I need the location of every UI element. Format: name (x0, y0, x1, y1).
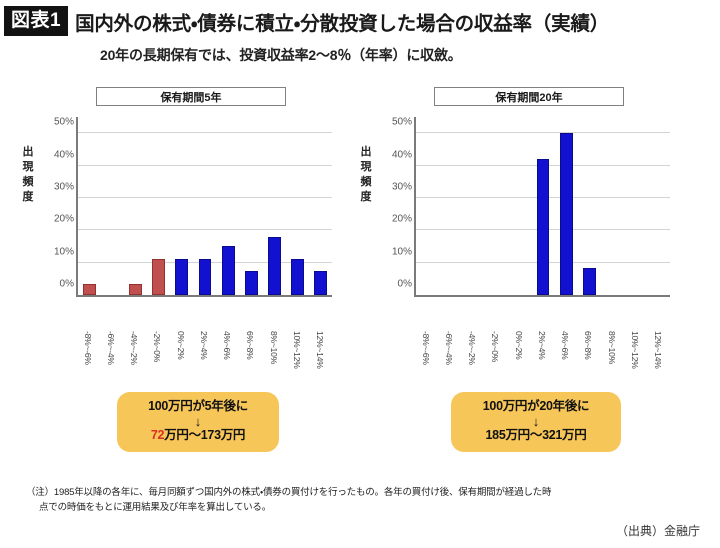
y-axis-tick-label: 50% (392, 117, 412, 128)
y-axis-caption-char: 頻 (20, 175, 36, 190)
y-axis-tick-label: 40% (392, 149, 412, 160)
x-axis-tick-label: 2%~4% (537, 331, 547, 360)
x-axis-tick-label: 10%~12% (630, 331, 640, 369)
plot-area-left: 0%10%20%30%40%50% -8%~-6%-6%~-4%-4%~-2%-… (64, 117, 332, 297)
page-title: 国内外の株式・債券に積立・分散投資した場合の収益率（実績） (75, 7, 609, 36)
plot-area-right: 0%10%20%30%40%50% -8%~-6%-6%~-4%-4%~-2%-… (402, 117, 670, 297)
x-axis-label-slot: 4%~6% (216, 329, 239, 391)
bars-right (416, 117, 670, 295)
bar-slot (286, 117, 309, 295)
y-axis-tick-label: 30% (392, 181, 412, 192)
callout-left-low-value: 72 (151, 428, 164, 442)
chart-panel-holding-20-years: 保有期間20年 出現頻度 0%10%20%30%40%50% -8%~-6%-6… (356, 85, 696, 375)
x-axis-tick-label: 0%~2% (514, 331, 524, 360)
x-axis-label-slot: 8%~10% (600, 329, 623, 391)
y-axis-tick-label: 0% (398, 279, 412, 290)
x-axis-label-slot: 4%~6% (554, 329, 577, 391)
x-axis-labels-right: -8%~-6%-6%~-4%-4%~-2%-2%~0%0%~2%2%~4%4%~… (414, 329, 670, 391)
chart-title-box-right: 保有期間20年 (434, 87, 624, 106)
x-axis-tick-label: -6%~-4% (106, 331, 116, 365)
bar-slot (647, 117, 670, 295)
x-axis-label-slot: -4%~-2% (123, 329, 146, 391)
chart-title-right: 保有期間20年 (495, 89, 562, 105)
bar-slot (124, 117, 147, 295)
y-axis-tick-label: 20% (392, 214, 412, 225)
x-axis-tick-label: 4%~6% (222, 331, 232, 360)
header: 図表1 国内外の株式・債券に積立・分散投資した場合の収益率（実績） 20年の長期… (0, 6, 720, 65)
chart-title-left: 保有期間5年 (160, 89, 221, 105)
bar (268, 237, 281, 295)
x-axis-label-slot: -8%~-6% (414, 329, 437, 391)
bar-slot (624, 117, 647, 295)
callout-left-range-rest: 万円〜173万円 (164, 428, 245, 442)
page-subtitle: 20年の長期保有では、投資収益率2〜8％（年率）に収斂。 (0, 45, 720, 65)
y-axis-caption-right: 出現頻度 (358, 145, 374, 205)
footnote: （注）1985年以降の各年に、毎月同額ずつ国内外の株式・債券の買付けを行ったもの… (26, 486, 686, 515)
x-axis-tick-label: 2%~4% (199, 331, 209, 360)
x-axis-label-slot: -4%~-2% (461, 329, 484, 391)
y-axis-tick-label: 50% (54, 117, 74, 128)
bar (560, 133, 573, 295)
footnote-line-1: （注）1985年以降の各年に、毎月同額ずつ国内外の株式・債券の買付けを行ったもの… (26, 487, 551, 498)
bar (152, 259, 165, 295)
x-axis-tick-label: 12%~14% (653, 331, 663, 369)
callout-left-arrow: ↓ (121, 415, 275, 429)
x-axis-label-slot: 0%~2% (507, 329, 530, 391)
x-axis-tick-label: -8%~-6% (83, 331, 93, 365)
bar (245, 271, 258, 295)
bar-slot (240, 117, 263, 295)
y-axis-caption-left: 出現頻度 (20, 145, 36, 205)
y-axis-caption-char: 度 (358, 190, 374, 205)
plot-inner-left: 0%10%20%30%40%50% (76, 117, 332, 297)
bar-slot (531, 117, 554, 295)
y-axis-caption-char: 現 (20, 160, 36, 175)
plot-inner-right: 0%10%20%30%40%50% (414, 117, 670, 297)
x-axis-label-slot: -6%~-4% (437, 329, 460, 391)
bar-slot (462, 117, 485, 295)
y-axis-tick-label: 0% (60, 279, 74, 290)
callout-right-line2: 185万円〜321万円 (455, 428, 617, 444)
x-axis-label-slot: 6%~8% (239, 329, 262, 391)
bar (222, 246, 235, 295)
x-axis-label-slot: 2%~4% (192, 329, 215, 391)
x-axis-label-slot: -6%~-4% (99, 329, 122, 391)
x-axis-label-slot: 2%~4% (530, 329, 553, 391)
callout-right-arrow: ↓ (455, 415, 617, 429)
bar (83, 284, 96, 295)
bar-slot (217, 117, 240, 295)
bar-slot (578, 117, 601, 295)
x-axis-label-slot: 10%~12% (285, 329, 308, 391)
x-axis-tick-label: -8%~-6% (421, 331, 431, 365)
footnote-line-2: 点での時価をもとに運用結果及び年率を算出している。 (26, 501, 686, 516)
source-attribution: （出典）金融庁 (616, 522, 700, 539)
x-axis-label-slot: 12%~14% (309, 329, 332, 391)
x-axis-tick-label: 0%~2% (176, 331, 186, 360)
y-axis-caption-char: 出 (358, 145, 374, 160)
bar-slot (416, 117, 439, 295)
bar-slot (147, 117, 170, 295)
bar-slot (508, 117, 531, 295)
x-axis-labels-left: -8%~-6%-6%~-4%-4%~-2%-2%~0%0%~2%2%~4%4%~… (76, 329, 332, 391)
y-axis-tick-label: 20% (54, 214, 74, 225)
bars-left (78, 117, 332, 295)
bar-slot (439, 117, 462, 295)
figure-badge: 図表1 (4, 6, 68, 36)
x-axis-tick-label: 8%~10% (269, 331, 279, 364)
y-axis-tick-label: 30% (54, 181, 74, 192)
x-axis-tick-label: 4%~6% (560, 331, 570, 360)
bar (129, 284, 142, 295)
x-axis-label-slot: -2%~0% (484, 329, 507, 391)
x-axis-label-slot: 6%~8% (577, 329, 600, 391)
y-axis-caption-char: 頻 (358, 175, 374, 190)
x-axis-tick-label: 12%~14% (315, 331, 325, 369)
bar-slot (555, 117, 578, 295)
x-axis-label-slot: -2%~0% (146, 329, 169, 391)
x-axis-tick-label: -6%~-4% (444, 331, 454, 365)
x-axis-label-slot: 10%~12% (623, 329, 646, 391)
x-axis-tick-label: 8%~10% (607, 331, 617, 364)
y-axis-caption-char: 度 (20, 190, 36, 205)
x-axis-tick-label: -4%~-2% (129, 331, 139, 365)
bar-slot (170, 117, 193, 295)
callout-left-line1: 100万円が5年後に (121, 399, 275, 415)
bar-slot (485, 117, 508, 295)
x-axis-tick-label: -4%~-2% (467, 331, 477, 365)
y-axis-caption-char: 出 (20, 145, 36, 160)
bar (291, 259, 304, 295)
bar-slot (309, 117, 332, 295)
x-axis-tick-label: -2%~0% (490, 331, 500, 362)
y-axis-tick-label: 40% (54, 149, 74, 160)
bar (537, 159, 550, 295)
y-axis-caption-char: 現 (358, 160, 374, 175)
bar-slot (101, 117, 124, 295)
bar-slot (78, 117, 101, 295)
bar (583, 268, 596, 295)
y-axis-tick-label: 10% (392, 246, 412, 257)
callout-right-line1: 100万円が20年後に (455, 399, 617, 415)
x-axis-tick-label: 6%~8% (583, 331, 593, 360)
chart-title-box-left: 保有期間5年 (96, 87, 286, 106)
x-axis-label-slot: -8%~-6% (76, 329, 99, 391)
x-axis-label-slot: 8%~10% (262, 329, 285, 391)
bar-slot (601, 117, 624, 295)
y-axis-tick-label: 10% (54, 246, 74, 257)
callout-box-20-years: 100万円が20年後に ↓ 185万円〜321万円 (451, 392, 621, 452)
callout-left-line2: 72万円〜173万円 (121, 428, 275, 444)
title-row: 図表1 国内外の株式・債券に積立・分散投資した場合の収益率（実績） (0, 6, 720, 36)
x-axis-label-slot: 0%~2% (169, 329, 192, 391)
bar-slot (193, 117, 216, 295)
x-axis-tick-label: -2%~0% (152, 331, 162, 362)
bar (175, 259, 188, 295)
bar (199, 259, 212, 295)
bar (314, 271, 327, 295)
chart-panel-holding-5-years: 保有期間5年 出現頻度 0%10%20%30%40%50% -8%~-6%-6%… (18, 85, 358, 375)
callout-box-5-years: 100万円が5年後に ↓ 72万円〜173万円 (117, 392, 279, 452)
x-axis-tick-label: 10%~12% (292, 331, 302, 369)
bar-slot (263, 117, 286, 295)
x-axis-label-slot: 12%~14% (647, 329, 670, 391)
x-axis-tick-label: 6%~8% (245, 331, 255, 360)
